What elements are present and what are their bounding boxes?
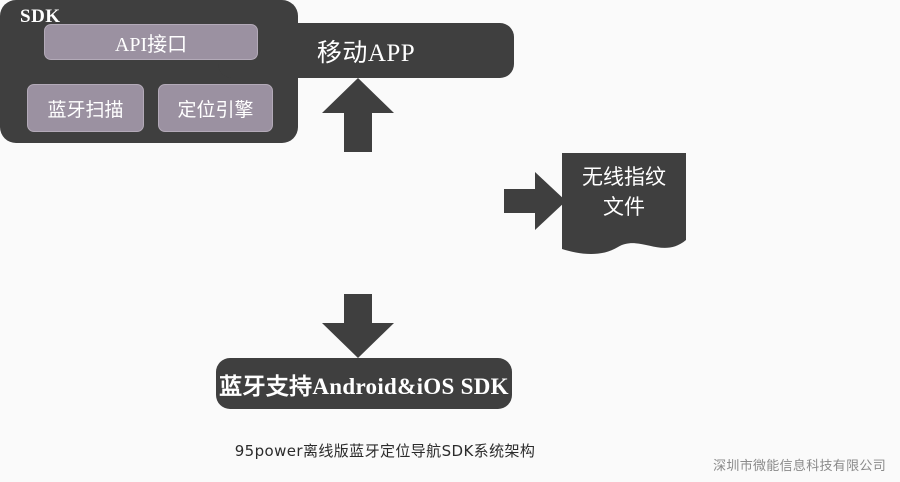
node-fingerprint-file: 无线指纹 文件 [556, 148, 692, 260]
node-mobile-app: 移动APP [218, 23, 514, 78]
node-location-engine: 定位引擎 [158, 84, 273, 132]
node-location-engine-label: 定位引擎 [177, 95, 253, 122]
down-arrow-icon [322, 294, 394, 358]
node-fingerprint-file-label: 无线指纹 文件 [556, 162, 692, 222]
architecture-diagram: 移动APP SDK API接口 蓝牙扫描 定位引擎 无线指纹 文件 蓝牙支持An… [0, 0, 900, 482]
node-api-label: API接口 [115, 28, 187, 57]
node-bluetooth-support: 蓝牙支持Android&iOS SDK [216, 358, 512, 409]
node-bluetooth-support-label: 蓝牙支持Android&iOS SDK [219, 367, 509, 401]
node-api-interface: API接口 [44, 24, 258, 60]
node-bluetooth-scan-label: 蓝牙扫描 [47, 95, 123, 122]
company-watermark: 深圳市微能信息科技有限公司 [713, 455, 886, 474]
up-arrow-icon [322, 78, 394, 152]
node-bluetooth-scan: 蓝牙扫描 [27, 84, 144, 132]
diagram-caption: 95power离线版蓝牙定位导航SDK系统架构 [0, 440, 770, 461]
node-mobile-app-label: 移动APP [317, 33, 415, 69]
